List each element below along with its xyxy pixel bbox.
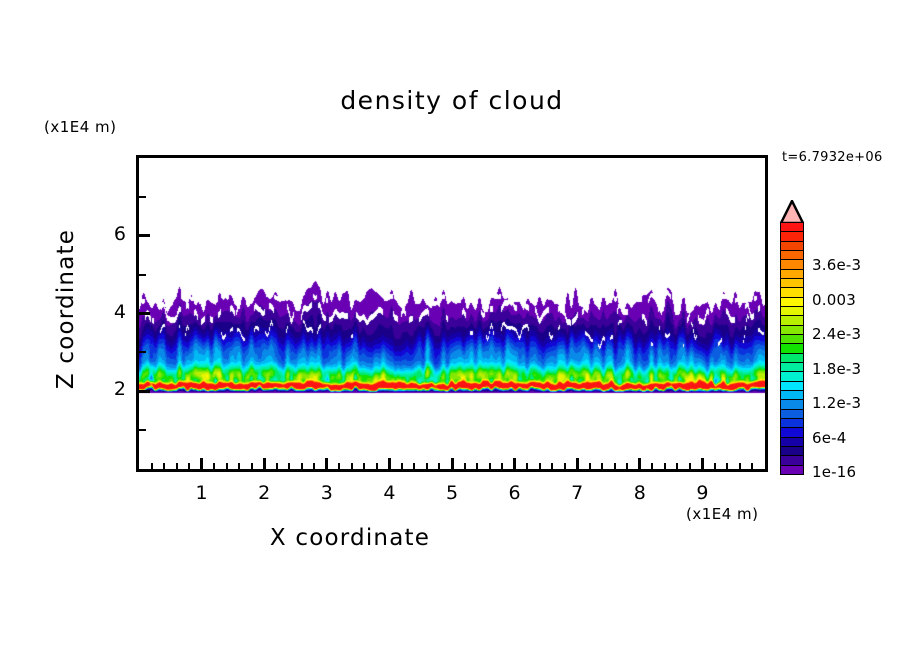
- x-tick-label: 5: [432, 482, 472, 504]
- x-minor-tick: [313, 463, 315, 469]
- x-minor-tick: [664, 463, 666, 469]
- x-major-tick: [200, 458, 203, 469]
- x-minor-tick: [551, 463, 553, 469]
- x-minor-tick: [614, 463, 616, 469]
- colorbar-tick-label: 6e-4: [812, 429, 847, 447]
- x-minor-tick: [689, 463, 691, 469]
- colorbar-tick-label: 0.003: [812, 291, 856, 309]
- x-major-tick: [263, 458, 266, 469]
- y-minor-tick: [139, 351, 146, 353]
- colorbar-tick-label: 2.4e-3: [812, 325, 861, 343]
- x-minor-tick: [213, 463, 215, 469]
- x-minor-tick: [438, 463, 440, 469]
- x-major-tick: [576, 458, 579, 469]
- x-minor-tick: [238, 463, 240, 469]
- x-minor-tick: [589, 463, 591, 469]
- y-minor-tick: [139, 196, 146, 198]
- x-minor-tick: [539, 463, 541, 469]
- x-minor-tick: [676, 463, 678, 469]
- x-minor-tick: [288, 463, 290, 469]
- x-major-tick: [701, 458, 704, 469]
- x-minor-tick: [489, 463, 491, 469]
- x-minor-tick: [751, 463, 753, 469]
- x-tick-label: 1: [182, 482, 222, 504]
- x-axis-unit-label: (x1E4 m): [686, 505, 759, 523]
- x-tick-label: 9: [682, 482, 722, 504]
- y-minor-tick: [139, 274, 146, 276]
- x-minor-tick: [726, 463, 728, 469]
- colorbar-arrow-icon: [780, 200, 804, 224]
- colorbar: [780, 222, 804, 474]
- x-minor-tick: [401, 463, 403, 469]
- time-annotation: t=6.7932e+06: [782, 150, 883, 165]
- x-minor-tick: [501, 463, 503, 469]
- colorbar-tick-label: 1.8e-3: [812, 360, 861, 378]
- x-minor-tick: [226, 463, 228, 469]
- x-tick-label: 4: [369, 482, 409, 504]
- x-major-tick: [388, 458, 391, 469]
- x-minor-tick: [276, 463, 278, 469]
- y-axis-label: Z coordinate: [53, 199, 79, 419]
- x-minor-tick: [464, 463, 466, 469]
- y-major-tick: [139, 312, 150, 315]
- page-title: density of cloud: [0, 86, 904, 115]
- x-minor-tick: [526, 463, 528, 469]
- x-minor-tick: [413, 463, 415, 469]
- x-minor-tick: [739, 463, 741, 469]
- x-minor-tick: [338, 463, 340, 469]
- x-minor-tick: [476, 463, 478, 469]
- y-minor-tick: [139, 429, 146, 431]
- x-minor-tick: [163, 463, 165, 469]
- x-tick-label: 7: [557, 482, 597, 504]
- x-major-tick: [638, 458, 641, 469]
- y-major-tick: [139, 234, 150, 237]
- x-tick-label: 2: [244, 482, 284, 504]
- density-field-canvas: [139, 158, 765, 469]
- x-minor-tick: [376, 463, 378, 469]
- x-minor-tick: [714, 463, 716, 469]
- x-tick-label: 8: [620, 482, 660, 504]
- x-axis-label: X coordinate: [0, 525, 700, 551]
- x-major-tick: [451, 458, 454, 469]
- colorbar-band: [780, 465, 804, 476]
- x-minor-tick: [651, 463, 653, 469]
- x-minor-tick: [426, 463, 428, 469]
- x-tick-label: 3: [307, 482, 347, 504]
- x-minor-tick: [363, 463, 365, 469]
- y-major-tick: [139, 390, 150, 393]
- y-tick-label: 2: [94, 378, 126, 400]
- x-minor-tick: [188, 463, 190, 469]
- x-minor-tick: [301, 463, 303, 469]
- figure-root: density of cloud (x1E4 m) (x1E4 m) t=6.7…: [0, 0, 904, 654]
- x-minor-tick: [251, 463, 253, 469]
- x-major-tick: [513, 458, 516, 469]
- colorbar-tick-label: 3.6e-3: [812, 256, 861, 274]
- x-tick-label: 6: [495, 482, 535, 504]
- x-minor-tick: [626, 463, 628, 469]
- x-minor-tick: [176, 463, 178, 469]
- x-major-tick: [325, 458, 328, 469]
- colorbar-tick-label: 1e-16: [812, 463, 856, 481]
- plot-area: [136, 155, 768, 472]
- y-tick-label: 6: [94, 223, 126, 245]
- x-minor-tick: [351, 463, 353, 469]
- x-minor-tick: [151, 463, 153, 469]
- x-minor-tick: [601, 463, 603, 469]
- x-minor-tick: [564, 463, 566, 469]
- y-axis-unit-label: (x1E4 m): [44, 118, 117, 136]
- y-tick-label: 4: [94, 301, 126, 323]
- colorbar-tick-label: 1.2e-3: [812, 394, 861, 412]
